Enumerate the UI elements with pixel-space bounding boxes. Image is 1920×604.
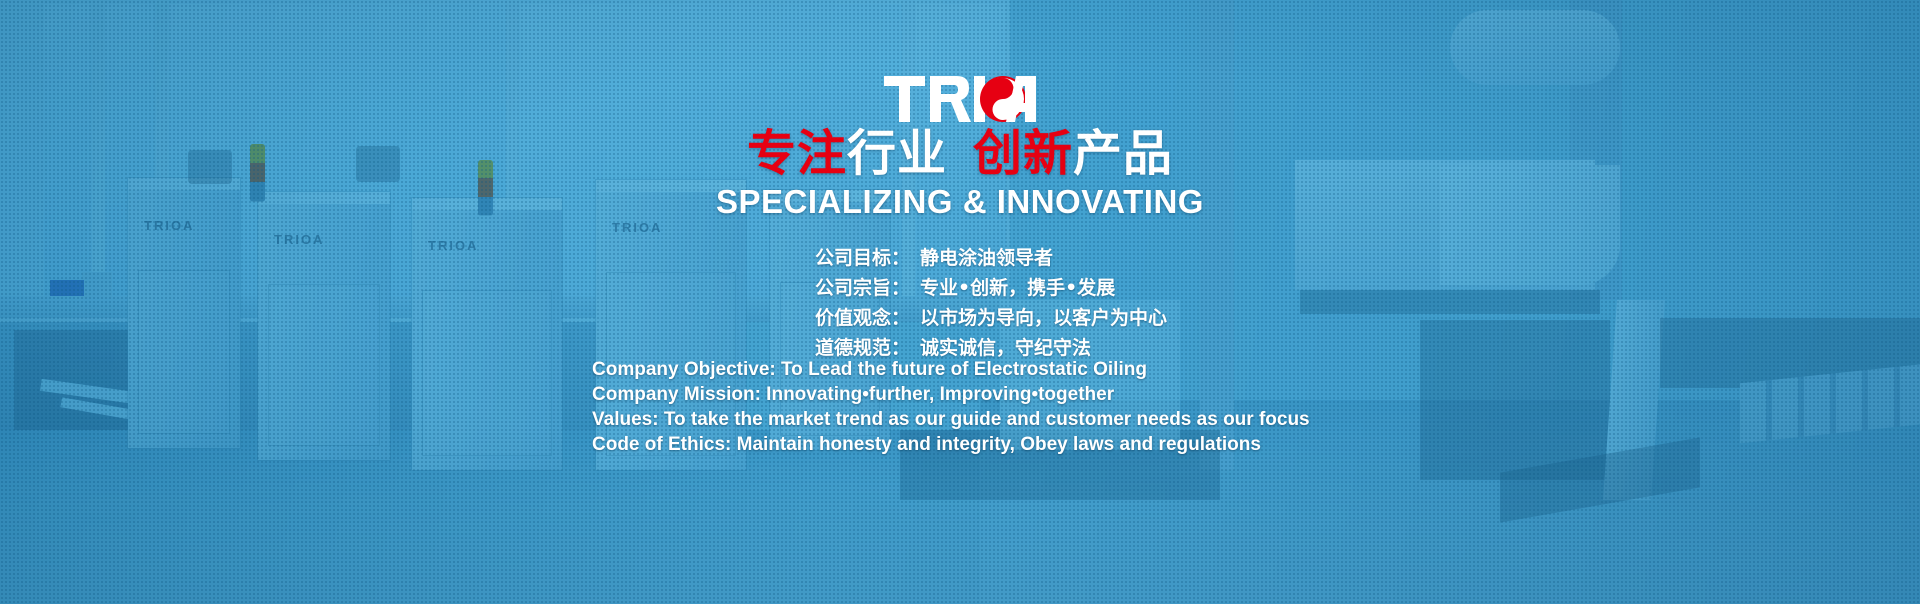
values-cn-value: 以市场为导向，以客户为中心: [920, 303, 1167, 333]
values-cn-row: 公司宗旨：专业•创新，携手•发展: [815, 273, 1167, 303]
values-cn-label: 公司宗旨：: [815, 273, 910, 303]
values-en-row: Values: To take the market trend as our …: [592, 407, 1310, 432]
values-cn-row: 价值观念：以市场为导向，以客户为中心: [815, 303, 1167, 333]
headline-english: SPECIALIZING & INNOVATING: [0, 183, 1920, 221]
values-cn-row: 公司目标：静电涂油领导者: [815, 243, 1167, 273]
values-list-chinese: 公司目标：静电涂油领导者 公司宗旨：专业•创新，携手•发展 价值观念：以市场为导…: [815, 243, 1167, 363]
values-en-row: Company Mission: Innovating•further, Imp…: [592, 382, 1310, 407]
headline-cn-part1: 专注: [747, 125, 847, 182]
values-cn-label: 价值观念：: [815, 303, 910, 333]
banner-content: 专注行业创新产品 SPECIALIZING & INNOVATING 公司目标：…: [0, 0, 1920, 604]
headline-cn-part2: 行业: [847, 125, 947, 182]
values-cn-value: 专业•创新，携手•发展: [920, 273, 1115, 303]
values-en-row: Code of Ethics: Maintain honesty and int…: [592, 432, 1310, 457]
values-cn-label: 公司目标：: [815, 243, 910, 273]
headline-chinese: 专注行业创新产品: [0, 128, 1920, 179]
values-cn-value: 静电涂油领导者: [920, 243, 1053, 273]
headline-cn-part4: 产品: [1073, 125, 1173, 182]
headline-cn-part3: 创新: [973, 125, 1073, 182]
values-list-english: Company Objective: To Lead the future of…: [592, 357, 1310, 457]
trioa-logo-icon: [884, 76, 1036, 122]
values-en-row: Company Objective: To Lead the future of…: [592, 357, 1310, 382]
hero-banner: TRIOA TRIOA TRIOA TRIOA: [0, 0, 1920, 604]
trioa-logo[interactable]: [0, 74, 1920, 124]
